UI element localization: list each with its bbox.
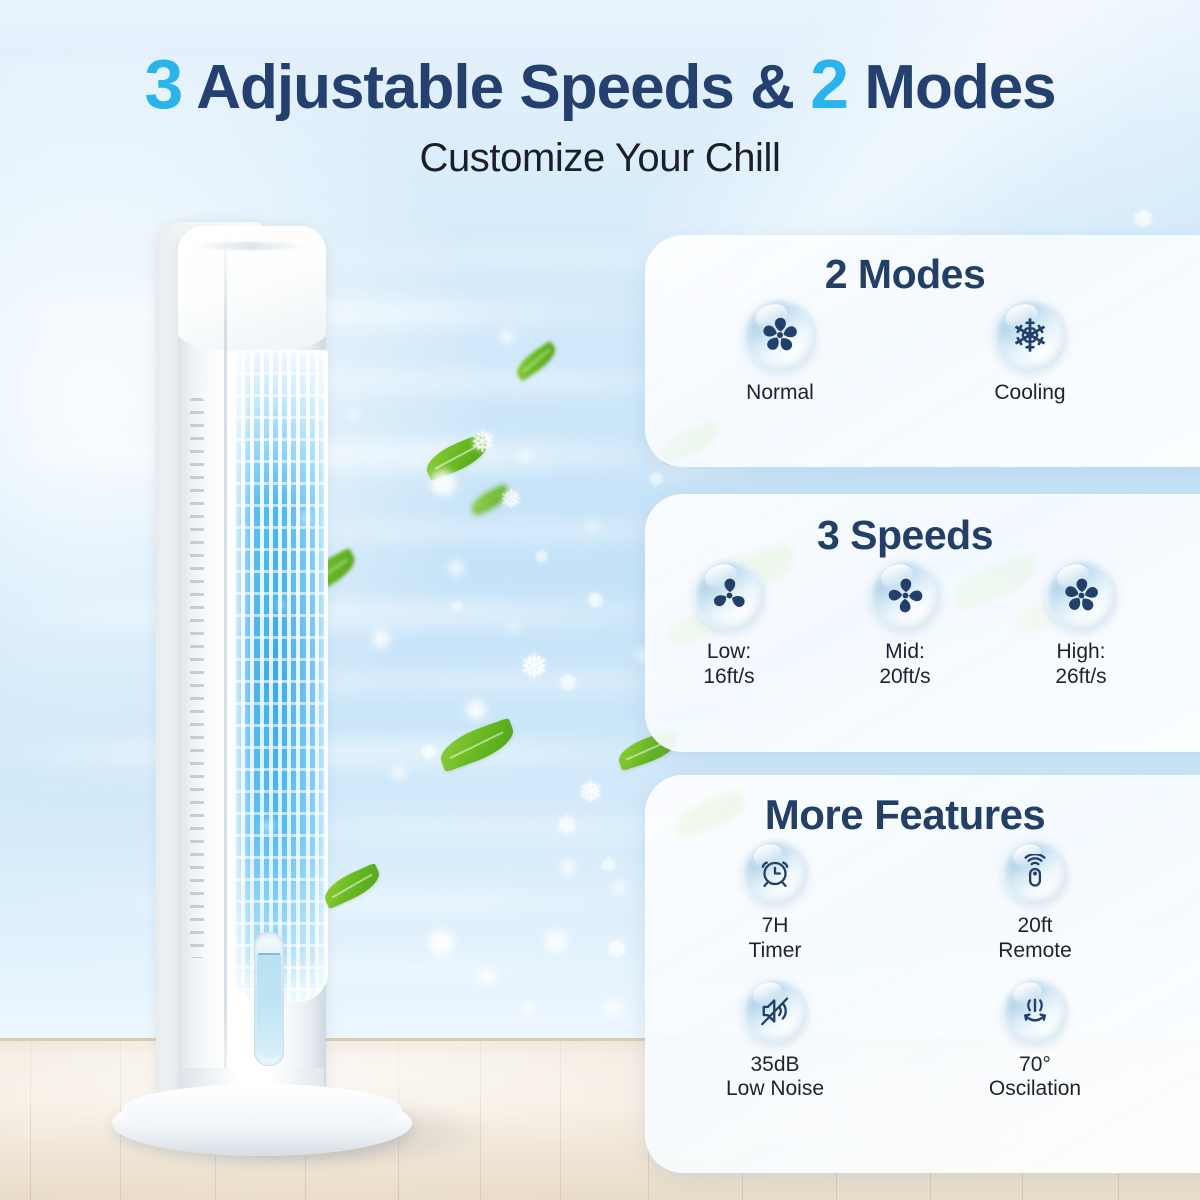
fan-side-vents bbox=[190, 398, 204, 958]
bokeh-dot bbox=[604, 1000, 622, 1018]
snowflake-decoration: ❅ bbox=[534, 548, 549, 566]
snowflake-decoration: ❅ bbox=[556, 812, 578, 838]
card-modes-items: Normal bbox=[645, 298, 1165, 406]
card-features-title: More Features bbox=[645, 791, 1165, 839]
fan-base-disc-top bbox=[122, 1084, 402, 1136]
water-level-fill bbox=[257, 955, 281, 1059]
infographic-canvas: ❅❅❅❅❅❅❅❅❅❅❅❅❅❅❅❅ 3 Adjustable Speeds & 2… bbox=[0, 0, 1200, 1200]
headline-number-3: 3 bbox=[144, 45, 182, 123]
page-subtitle: Customize Your Chill bbox=[0, 136, 1200, 181]
feature-item-fan-3-blade: Low: 16ft/s bbox=[693, 559, 765, 690]
bokeh-dot bbox=[372, 630, 390, 648]
bokeh-dot bbox=[612, 880, 626, 894]
feature-item-label: Normal bbox=[746, 381, 814, 406]
snowflake-icon bbox=[993, 298, 1067, 372]
bokeh-dot bbox=[430, 470, 456, 496]
bokeh-dot bbox=[392, 766, 406, 780]
fan-icon bbox=[743, 298, 817, 372]
feature-item-mute-speaker: 35dB Low Noise bbox=[659, 978, 891, 1103]
headline-text-modes: Modes bbox=[864, 53, 1055, 122]
fan-5-blade-icon bbox=[1045, 559, 1117, 631]
snowflake-decoration: ❅ bbox=[600, 856, 617, 876]
snowflake-decoration: ❅ bbox=[470, 428, 495, 458]
headline-number-2: 2 bbox=[810, 45, 848, 123]
feature-item-fan-4-blade: Mid: 20ft/s bbox=[869, 559, 941, 690]
snowflake-decoration: ❅ bbox=[500, 486, 522, 512]
remote-control-icon bbox=[1002, 839, 1068, 905]
bokeh-dot bbox=[586, 520, 598, 532]
snowflake-decoration: ❅ bbox=[450, 600, 463, 616]
bokeh-dot bbox=[560, 860, 576, 876]
fan-body-seam bbox=[224, 230, 227, 1110]
headline-text-speeds: Adjustable Speeds & bbox=[196, 53, 794, 122]
feature-item-snowflake: Cooling bbox=[993, 298, 1067, 406]
bokeh-dot bbox=[348, 408, 360, 420]
water-tank-window bbox=[254, 932, 284, 1066]
bokeh-dot bbox=[428, 930, 454, 956]
bokeh-dot bbox=[466, 700, 486, 720]
card-features: More Features 7H Timer 20ft Remote 35dB … bbox=[645, 775, 1200, 1173]
fan-3-blade-icon bbox=[693, 559, 765, 631]
feature-item-label: High: 26ft/s bbox=[1055, 640, 1106, 690]
feature-item-label: 20ft Remote bbox=[998, 914, 1072, 964]
bokeh-dot bbox=[448, 560, 464, 576]
bokeh-dot bbox=[478, 968, 496, 986]
fan-grille-gloss bbox=[232, 350, 328, 1002]
feature-item-label: Low: 16ft/s bbox=[703, 640, 754, 690]
card-features-items: 7H Timer 20ft Remote 35dB Low Noise 70° … bbox=[645, 839, 1165, 1102]
feature-item-oscillation: 70° Oscilation bbox=[919, 978, 1151, 1103]
snowflake-decoration: ❅ bbox=[558, 672, 578, 696]
snowflake-decoration: ❅ bbox=[578, 778, 603, 808]
water-level-line bbox=[258, 953, 280, 955]
bokeh-dot bbox=[500, 330, 514, 344]
feature-item-label: Mid: 20ft/s bbox=[879, 640, 930, 690]
fan-4-blade-icon bbox=[869, 559, 941, 631]
oscillation-icon bbox=[1002, 978, 1068, 1044]
bokeh-dot bbox=[300, 512, 312, 524]
card-speeds-items: Low: 16ft/s Mid: 20ft/s bbox=[645, 559, 1165, 690]
snowflake-decoration: ❅ bbox=[420, 742, 438, 764]
snowflake-decoration: ❅ bbox=[1132, 206, 1154, 232]
feature-item-label: 70° Oscilation bbox=[989, 1053, 1081, 1103]
feature-item-label: 35dB Low Noise bbox=[726, 1053, 824, 1103]
mute-speaker-icon bbox=[742, 978, 808, 1044]
alarm-clock-icon bbox=[742, 839, 808, 905]
feature-item-label: 7H Timer bbox=[749, 914, 802, 964]
bokeh-dot bbox=[262, 820, 275, 833]
snowflake-decoration: ❅ bbox=[520, 1000, 537, 1020]
snowflake-decoration: ❅ bbox=[648, 470, 665, 490]
bokeh-dot bbox=[520, 450, 532, 462]
bokeh-dot bbox=[545, 930, 567, 952]
feature-item-alarm-clock: 7H Timer bbox=[659, 839, 891, 964]
card-speeds: 3 Speeds Low: 16ft/s bbox=[645, 494, 1200, 752]
bokeh-dot bbox=[508, 622, 519, 633]
bokeh-dot bbox=[276, 600, 286, 610]
card-modes-title: 2 Modes bbox=[645, 251, 1165, 298]
page-title: 3 Adjustable Speeds & 2 Modes bbox=[0, 44, 1200, 124]
fan-top-highlight bbox=[192, 242, 308, 250]
snowflake-decoration: ❅ bbox=[586, 590, 604, 612]
tower-fan-product-image bbox=[98, 222, 398, 1152]
feature-item-remote-control: 20ft Remote bbox=[919, 839, 1151, 964]
card-speeds-title: 3 Speeds bbox=[645, 512, 1165, 559]
snowflake-decoration: ❅ bbox=[520, 650, 549, 684]
snowflake-decoration: ❅ bbox=[606, 936, 628, 962]
feature-item-label: Cooling bbox=[994, 381, 1065, 406]
card-modes: 2 Modes Normal bbox=[645, 235, 1200, 467]
feature-item-fan: Normal bbox=[743, 298, 817, 406]
feature-item-fan-5-blade: High: 26ft/s bbox=[1045, 559, 1117, 690]
